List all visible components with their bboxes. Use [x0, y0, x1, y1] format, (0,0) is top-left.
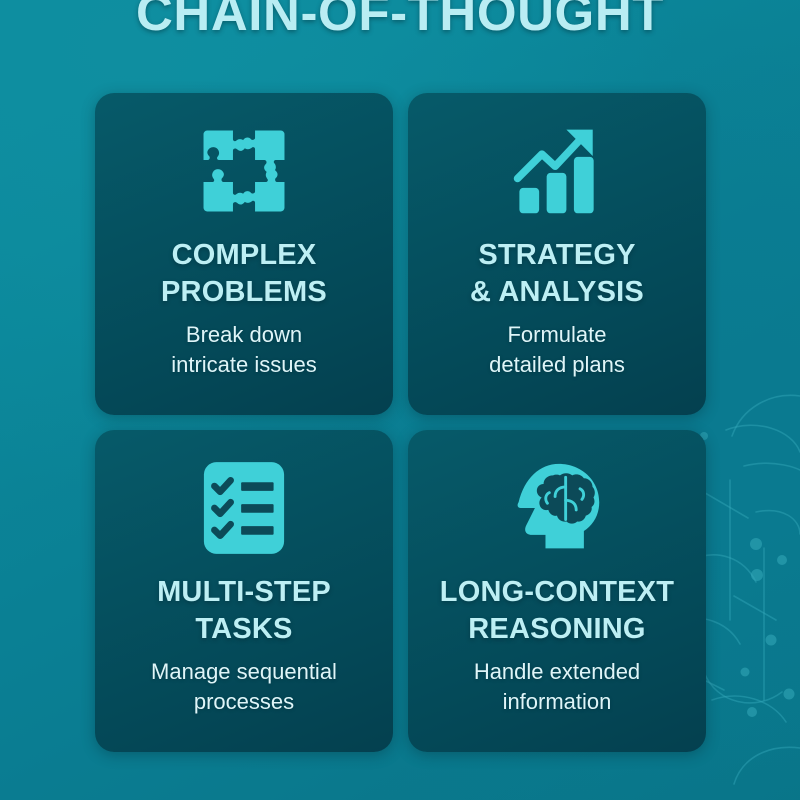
card-description: Formulate detailed plans: [479, 320, 635, 380]
card-desc-line1: Manage sequential: [151, 659, 337, 684]
card-title-line1: COMPLEX: [172, 239, 317, 271]
checklist-icon: [194, 458, 294, 558]
card-title-line1: LONG-CONTEXT: [440, 576, 674, 608]
feature-card-complex-problems[interactable]: COMPLEX PROBLEMS Break down intricate is…: [95, 93, 393, 415]
card-desc-line2: information: [503, 689, 612, 714]
feature-card-grid: COMPLEX PROBLEMS Break down intricate is…: [95, 93, 706, 751]
card-title-line2: PROBLEMS: [161, 276, 327, 308]
poster-title-container: CHAIN-OF-THOUGHT: [0, 0, 800, 42]
bar-chart-growth-icon-svg: [510, 124, 604, 218]
card-title-line2: & ANALYSIS: [470, 276, 644, 308]
feature-card-multi-step-tasks[interactable]: MULTI-STEP TASKS Manage sequential proce…: [95, 430, 393, 752]
card-desc-line2: intricate issues: [171, 352, 317, 377]
card-title: STRATEGY & ANALYSIS: [464, 237, 650, 311]
checklist-icon-svg: [202, 460, 286, 556]
head-brain-icon: [507, 458, 607, 558]
card-title: LONG-CONTEXT REASONING: [434, 574, 680, 648]
head-brain-icon-svg: [510, 460, 604, 556]
card-desc-line2: processes: [194, 689, 294, 714]
card-desc-line1: Handle extended: [474, 659, 640, 684]
puzzle-icon: [194, 121, 294, 221]
card-title-line1: MULTI-STEP: [157, 576, 331, 608]
infographic-poster: CHAIN-OF-THOUGHT COMPLEX PROBLEMS: [0, 0, 800, 800]
card-desc-line1: Formulate: [507, 322, 606, 347]
card-desc-line1: Break down: [186, 322, 302, 347]
feature-card-strategy-analysis[interactable]: STRATEGY & ANALYSIS Formulate detailed p…: [408, 93, 706, 415]
puzzle-icon-svg: [198, 125, 290, 217]
card-title-line2: TASKS: [195, 613, 292, 645]
feature-card-long-context-reasoning[interactable]: LONG-CONTEXT REASONING Handle extended i…: [408, 430, 706, 752]
card-title-line2: REASONING: [468, 613, 645, 645]
page-title: CHAIN-OF-THOUGHT: [136, 0, 664, 42]
card-description: Manage sequential processes: [141, 657, 347, 717]
card-description: Break down intricate issues: [161, 320, 327, 380]
bar-chart-growth-icon: [507, 121, 607, 221]
card-title: COMPLEX PROBLEMS: [155, 237, 333, 311]
card-desc-line2: detailed plans: [489, 352, 625, 377]
card-title: MULTI-STEP TASKS: [151, 574, 337, 648]
card-description: Handle extended information: [464, 657, 650, 717]
card-title-line1: STRATEGY: [478, 239, 635, 271]
